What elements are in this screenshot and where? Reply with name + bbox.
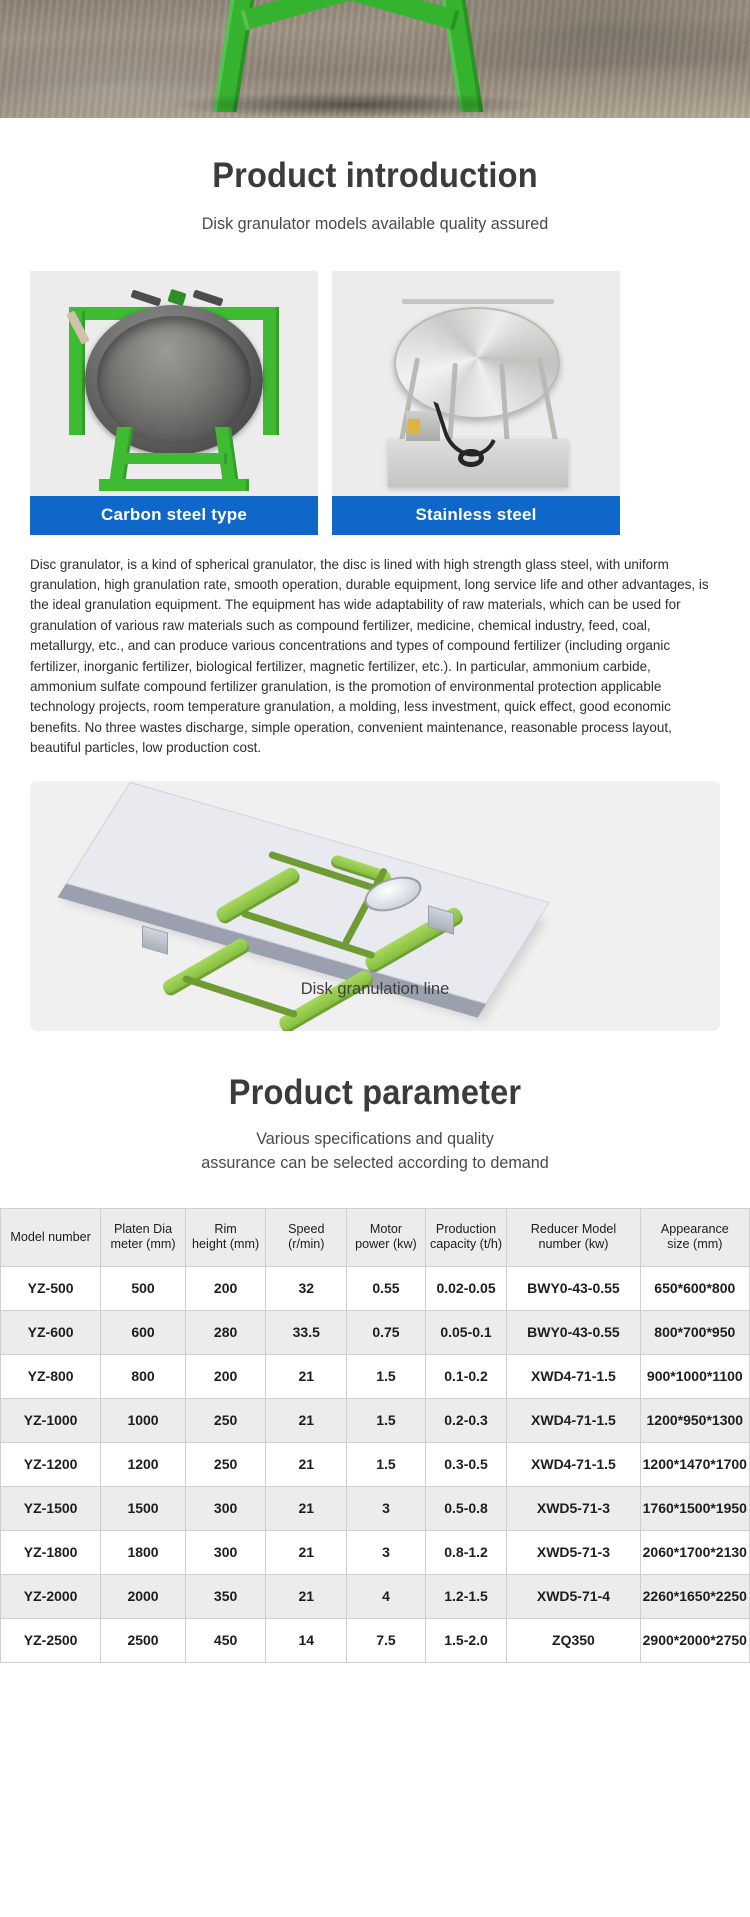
cell-appearance-size: 1200*950*1300: [640, 1398, 749, 1442]
cell-reducer-model: BWY0-43-0.55: [507, 1266, 640, 1310]
ss-top-bar: [402, 299, 554, 304]
cell-production-capacity: 0.05-0.1: [425, 1310, 506, 1354]
cell-platen-diameter: 2500: [101, 1618, 186, 1662]
hero-shadow: [170, 92, 540, 118]
card-carbon-steel[interactable]: Carbon steel type: [30, 271, 318, 535]
ss-cable-coil: [458, 449, 484, 467]
cell-speed: 21: [266, 1442, 347, 1486]
cell-motor-power: 7.5: [347, 1618, 426, 1662]
table-row: YZ-60060028033.50.750.05-0.1BWY0-43-0.55…: [1, 1310, 750, 1354]
header-production-capacity: Productioncapacity (t/h): [425, 1208, 506, 1266]
cell-platen-diameter: 800: [101, 1354, 186, 1398]
parameter-subtitle-line2: assurance can be selected according to d…: [201, 1153, 548, 1172]
granulator-disc-inner: [97, 316, 251, 444]
cell-production-capacity: 1.5-2.0: [425, 1618, 506, 1662]
cell-speed: 21: [266, 1398, 347, 1442]
cell-speed: 33.5: [266, 1310, 347, 1354]
parameter-subtitle-line1: Various specifications and quality: [256, 1129, 494, 1148]
carbon-steel-caption: Carbon steel type: [30, 496, 318, 535]
parameter-table: Model number Platen Diameter (mm) Rimhei…: [0, 1208, 750, 1663]
cell-model-number: YZ-500: [1, 1266, 101, 1310]
cell-appearance-size: 650*600*800: [640, 1266, 749, 1310]
carbon-steel-photo: [30, 271, 318, 496]
line-base-slab: [66, 781, 550, 1003]
fitting-right: [192, 289, 223, 306]
cell-model-number: YZ-2000: [1, 1574, 101, 1618]
frame-foot-cross: [121, 453, 227, 464]
product-parameter-subtitle: Various specifications and quality assur…: [19, 1113, 732, 1176]
cell-speed: 14: [266, 1618, 347, 1662]
table-row: YZ-800800200211.50.1-0.2XWD4-71-1.5900*1…: [1, 1354, 750, 1398]
cell-speed: 21: [266, 1354, 347, 1398]
top-fittings: [131, 291, 223, 305]
header-platen-diameter: Platen Diameter (mm): [101, 1208, 186, 1266]
granulator-disc: [85, 305, 263, 455]
table-row: YZ-150015003002130.5-0.8XWD5-71-31760*15…: [1, 1486, 750, 1530]
table-row: YZ-25002500450147.51.5-2.0ZQ3502900*2000…: [1, 1618, 750, 1662]
cell-model-number: YZ-1200: [1, 1442, 101, 1486]
cell-production-capacity: 1.2-1.5: [425, 1574, 506, 1618]
cell-rim-height: 300: [185, 1486, 266, 1530]
cell-rim-height: 200: [185, 1354, 266, 1398]
cell-model-number: YZ-2500: [1, 1618, 101, 1662]
hero-photo: [0, 0, 750, 118]
cell-rim-height: 350: [185, 1574, 266, 1618]
fitting-center: [167, 288, 186, 305]
cell-reducer-model: ZQ350: [507, 1618, 640, 1662]
cell-appearance-size: 2060*1700*2130: [640, 1530, 749, 1574]
cell-platen-diameter: 1500: [101, 1486, 186, 1530]
cell-model-number: YZ-1500: [1, 1486, 101, 1530]
cell-motor-power: 3: [347, 1486, 426, 1530]
header-rim-height: Rimheight (mm): [185, 1208, 266, 1266]
cell-platen-diameter: 600: [101, 1310, 186, 1354]
cell-model-number: YZ-1000: [1, 1398, 101, 1442]
table-row: YZ-500500200320.550.02-0.05BWY0-43-0.556…: [1, 1266, 750, 1310]
frame-right-bar: [263, 311, 279, 435]
cell-reducer-model: XWD4-71-1.5: [507, 1442, 640, 1486]
cell-appearance-size: 800*700*950: [640, 1310, 749, 1354]
header-motor-power: Motorpower (kw): [347, 1208, 426, 1266]
table-row: YZ-12001200250211.50.3-0.5XWD4-71-1.5120…: [1, 1442, 750, 1486]
fitting-left: [130, 289, 161, 306]
table-header-row: Model number Platen Diameter (mm) Rimhei…: [1, 1208, 750, 1266]
line-equipment-4: [277, 968, 376, 1031]
cell-rim-height: 250: [185, 1442, 266, 1486]
header-speed: Speed(r/min): [266, 1208, 347, 1266]
table-row: YZ-180018003002130.8-1.2XWD5-71-32060*17…: [1, 1530, 750, 1574]
cell-rim-height: 280: [185, 1310, 266, 1354]
cell-reducer-model: XWD4-71-1.5: [507, 1398, 640, 1442]
cell-appearance-size: 900*1000*1100: [640, 1354, 749, 1398]
product-page: Product introduction Disk granulator mod…: [0, 0, 750, 1663]
cell-reducer-model: XWD5-71-4: [507, 1574, 640, 1618]
cell-motor-power: 0.55: [347, 1266, 426, 1310]
stainless-steel-photo: [332, 271, 620, 496]
stainless-steel-illustration: [332, 271, 620, 496]
cell-production-capacity: 0.5-0.8: [425, 1486, 506, 1530]
cell-motor-power: 0.75: [347, 1310, 426, 1354]
cell-motor-power: 1.5: [347, 1398, 426, 1442]
card-stainless-steel[interactable]: Stainless steel: [332, 271, 620, 535]
line-hopper-1: [142, 925, 168, 954]
product-introduction-subtitle: Disk granulator models available quality…: [19, 196, 732, 237]
header-appearance-size: Appearancesize (mm): [640, 1208, 749, 1266]
cell-speed: 21: [266, 1486, 347, 1530]
cell-reducer-model: XWD5-71-3: [507, 1486, 640, 1530]
cell-production-capacity: 0.1-0.2: [425, 1354, 506, 1398]
cell-speed: 32: [266, 1266, 347, 1310]
cell-rim-height: 450: [185, 1618, 266, 1662]
parameter-table-body: YZ-500500200320.550.02-0.05BWY0-43-0.556…: [1, 1266, 750, 1662]
cell-speed: 21: [266, 1574, 347, 1618]
ss-motor-label: [408, 419, 420, 433]
carbon-steel-illustration: [59, 277, 289, 492]
cell-motor-power: 3: [347, 1530, 426, 1574]
product-parameter-title: Product parameter: [26, 1031, 724, 1113]
cell-model-number: YZ-600: [1, 1310, 101, 1354]
cell-reducer-model: BWY0-43-0.55: [507, 1310, 640, 1354]
cell-appearance-size: 2260*1650*2250: [640, 1574, 749, 1618]
cell-platen-diameter: 1800: [101, 1530, 186, 1574]
parameter-table-head: Model number Platen Diameter (mm) Rimhei…: [1, 1208, 750, 1266]
cell-platen-diameter: 500: [101, 1266, 186, 1310]
cell-production-capacity: 0.2-0.3: [425, 1398, 506, 1442]
product-type-cards: Carbon steel type Stainless st: [0, 237, 750, 535]
cell-reducer-model: XWD5-71-3: [507, 1530, 640, 1574]
header-reducer-model: Reducer Modelnumber (kw): [507, 1208, 640, 1266]
cell-model-number: YZ-1800: [1, 1530, 101, 1574]
product-description: Disc granulator, is a kind of spherical …: [30, 555, 713, 759]
cell-production-capacity: 0.8-1.2: [425, 1530, 506, 1574]
cell-appearance-size: 1760*1500*1950: [640, 1486, 749, 1530]
cell-motor-power: 1.5: [347, 1442, 426, 1486]
cell-rim-height: 250: [185, 1398, 266, 1442]
table-row: YZ-200020003502141.2-1.5XWD5-71-42260*16…: [1, 1574, 750, 1618]
cell-motor-power: 4: [347, 1574, 426, 1618]
product-introduction-title: Product introduction: [26, 118, 724, 196]
cell-rim-height: 300: [185, 1530, 266, 1574]
cell-speed: 21: [266, 1530, 347, 1574]
header-model-number: Model number: [1, 1208, 101, 1266]
cell-rim-height: 200: [185, 1266, 266, 1310]
cell-appearance-size: 2900*2000*2750: [640, 1618, 749, 1662]
cell-model-number: YZ-800: [1, 1354, 101, 1398]
cell-reducer-model: XWD4-71-1.5: [507, 1354, 640, 1398]
cell-platen-diameter: 2000: [101, 1574, 186, 1618]
granulation-line-caption: Disk granulation line: [30, 980, 720, 999]
cell-production-capacity: 0.3-0.5: [425, 1442, 506, 1486]
cell-appearance-size: 1200*1470*1700: [640, 1442, 749, 1486]
frame-base: [99, 479, 249, 491]
table-row: YZ-10001000250211.50.2-0.3XWD4-71-1.5120…: [1, 1398, 750, 1442]
stainless-steel-caption: Stainless steel: [332, 496, 620, 535]
cell-motor-power: 1.5: [347, 1354, 426, 1398]
granulation-line-panel: Disk granulation line: [30, 781, 720, 1031]
cell-platen-diameter: 1000: [101, 1398, 186, 1442]
cell-production-capacity: 0.02-0.05: [425, 1266, 506, 1310]
cell-platen-diameter: 1200: [101, 1442, 186, 1486]
